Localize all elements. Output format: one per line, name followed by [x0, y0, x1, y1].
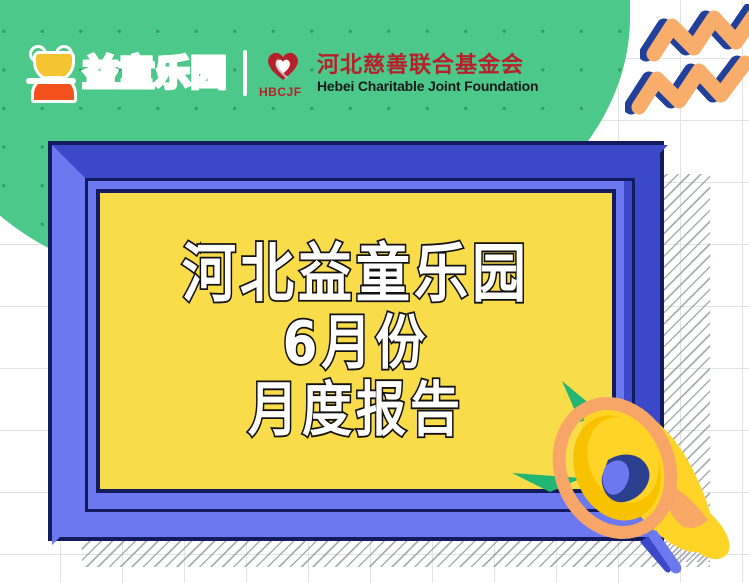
foundation-mark: HBCJF — [259, 48, 311, 98]
foundation-name-cn: 河北慈善联合基金会 — [317, 54, 538, 76]
logo-row: 益童乐园 HBCJF 河北慈善联合基金会 Hebei Charitable Jo… — [27, 48, 538, 98]
foundation-logo: HBCJF 河北慈善联合基金会 Hebei Charitable Joint F… — [259, 48, 538, 98]
megaphone-icon — [520, 368, 749, 568]
brand-name-cn-text: 益童乐园 — [83, 54, 227, 93]
zigzag-lower-decoration — [625, 55, 749, 117]
title-line-3: 月度报告 — [248, 380, 464, 440]
mascot-arms — [26, 78, 76, 84]
child-mascot-icon — [27, 48, 75, 98]
title-line-1: 河北益童乐园 — [182, 241, 530, 306]
frame-bevel-top — [52, 145, 668, 181]
logo-divider — [243, 50, 247, 96]
title-line-2: 6月份 — [283, 313, 430, 373]
brand-name-cn: 益童乐园 — [83, 56, 227, 91]
poster-canvas: 益童乐园 HBCJF 河北慈善联合基金会 Hebei Charitable Jo… — [0, 0, 749, 583]
heart-icon — [265, 49, 301, 82]
frame-bevel-left — [52, 145, 88, 545]
foundation-abbreviation: HBCJF — [259, 85, 302, 99]
foundation-name-en: Hebei Charitable Joint Foundation — [317, 79, 538, 93]
foundation-text-block: 河北慈善联合基金会 Hebei Charitable Joint Foundat… — [317, 54, 538, 93]
